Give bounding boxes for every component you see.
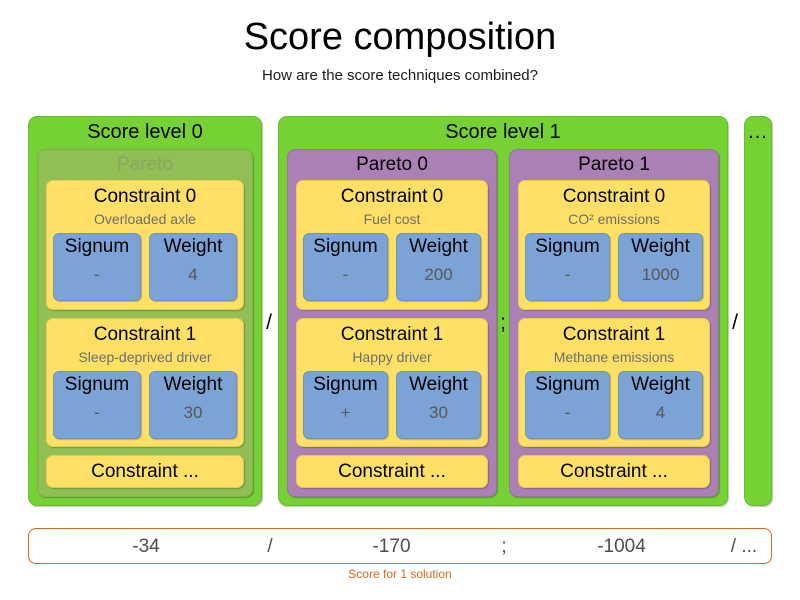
constraint-card[interactable]: Constraint 1 Happy driver Signum + Weigh… <box>296 318 488 448</box>
page-title: Score composition <box>0 0 800 59</box>
signum-value: - <box>565 260 571 290</box>
signum-label: Signum <box>65 372 129 398</box>
score-cell-pareto-1: -1004 <box>509 529 734 565</box>
constraint-name: Constraint 1 <box>53 322 237 347</box>
signum-value: - <box>343 260 349 290</box>
signum-box[interactable]: Signum - <box>303 233 388 301</box>
weight-value: 30 <box>429 398 448 428</box>
signum-box[interactable]: Signum + <box>303 371 388 439</box>
score-level-1-title: Score level 1 <box>279 117 727 147</box>
signum-box[interactable]: Signum - <box>53 233 141 301</box>
score-level-0-title: Score level 0 <box>29 117 261 147</box>
signum-label: Signum <box>535 234 599 260</box>
signum-value: - <box>565 398 571 428</box>
constraint-list: Constraint 0 Fuel cost Signum - Weight 2… <box>296 180 488 488</box>
constraint-attributes: Signum - Weight 30 <box>53 371 237 439</box>
constraint-card[interactable]: Constraint 0 Overloaded axle Signum - We… <box>46 180 244 310</box>
pareto-title: Pareto 0 <box>296 150 488 180</box>
score-cell-level-0: -34 <box>29 529 263 565</box>
signum-label: Signum <box>535 372 599 398</box>
score-level-0-panel[interactable]: Score level 0 Pareto Constraint 0 Overlo… <box>28 116 262 506</box>
weight-label: Weight <box>409 234 468 260</box>
score-level-more-panel[interactable]: ... <box>744 116 772 506</box>
constraint-name: Constraint 0 <box>303 184 481 209</box>
constraint-attributes: Signum - Weight 4 <box>525 371 703 439</box>
constraint-list: Constraint 0 CO² emissions Signum - Weig… <box>518 180 710 488</box>
score-bar[interactable]: -34 / -170 ; -1004 / ... <box>28 528 772 564</box>
constraint-name: Constraint 0 <box>525 184 703 209</box>
constraint-attributes: Signum - Weight 4 <box>53 233 237 301</box>
weight-label: Weight <box>164 234 223 260</box>
page-header: Score composition How are the score tech… <box>0 0 800 84</box>
pareto-box-disabled[interactable]: Pareto Constraint 0 Overloaded axle Sign… <box>37 149 253 497</box>
signum-value: + <box>341 398 351 428</box>
weight-box[interactable]: Weight 4 <box>618 371 703 439</box>
weight-label: Weight <box>631 234 690 260</box>
signum-box[interactable]: Signum - <box>525 233 610 301</box>
constraint-list: Constraint 0 Overloaded axle Signum - We… <box>46 180 244 488</box>
constraint-more-card[interactable]: Constraint ... <box>296 455 488 488</box>
signum-value: - <box>94 398 100 428</box>
weight-box[interactable]: Weight 4 <box>149 233 237 301</box>
constraint-description: Methane emissions <box>525 347 703 367</box>
score-cell-more: / ... <box>719 529 769 565</box>
weight-value: 4 <box>188 260 197 290</box>
constraint-attributes: Signum - Weight 200 <box>303 233 481 301</box>
constraint-more-label: Constraint ... <box>338 461 446 483</box>
constraint-name: Constraint 0 <box>53 184 237 209</box>
constraint-description: CO² emissions <box>525 209 703 229</box>
constraint-name: Constraint 1 <box>303 322 481 347</box>
weight-label: Weight <box>164 372 223 398</box>
weight-value: 4 <box>656 398 665 428</box>
signum-label: Signum <box>313 372 377 398</box>
pareto-title: Pareto <box>46 150 244 180</box>
page-subtitle: How are the score techniques combined? <box>0 59 800 84</box>
weight-label: Weight <box>409 372 468 398</box>
pareto-box-1[interactable]: Pareto 1 Constraint 0 CO² emissions Sign… <box>509 149 719 497</box>
constraint-more-card[interactable]: Constraint ... <box>46 455 244 488</box>
constraint-name: Constraint 1 <box>525 322 703 347</box>
constraint-card[interactable]: Constraint 1 Methane emissions Signum - … <box>518 318 710 448</box>
weight-value: 200 <box>424 260 452 290</box>
constraint-more-label: Constraint ... <box>560 461 668 483</box>
separator-pareto-0-to-1: ; <box>492 312 514 333</box>
constraint-card[interactable]: Constraint 0 Fuel cost Signum - Weight 2… <box>296 180 488 310</box>
constraint-more-card[interactable]: Constraint ... <box>518 455 710 488</box>
signum-label: Signum <box>65 234 129 260</box>
weight-value: 1000 <box>642 260 680 290</box>
constraint-card[interactable]: Constraint 0 CO² emissions Signum - Weig… <box>518 180 710 310</box>
constraint-description: Happy driver <box>303 347 481 367</box>
signum-box[interactable]: Signum - <box>525 371 610 439</box>
score-composition-diagram: Score level 0 Pareto Constraint 0 Overlo… <box>0 116 800 506</box>
signum-value: - <box>94 260 100 290</box>
signum-label: Signum <box>313 234 377 260</box>
score-bar-wrapper: -34 / -170 ; -1004 / ... Score for 1 sol… <box>28 528 772 581</box>
weight-box[interactable]: Weight 30 <box>396 371 481 439</box>
score-level-0-pareto-row: Pareto Constraint 0 Overloaded axle Sign… <box>37 149 253 497</box>
weight-label: Weight <box>631 372 690 398</box>
weight-value: 30 <box>184 398 203 428</box>
weight-box[interactable]: Weight 200 <box>396 233 481 301</box>
constraint-card[interactable]: Constraint 1 Sleep-deprived driver Signu… <box>46 318 244 448</box>
constraint-attributes: Signum - Weight 1000 <box>525 233 703 301</box>
pareto-title: Pareto 1 <box>518 150 710 180</box>
weight-box[interactable]: Weight 30 <box>149 371 237 439</box>
constraint-attributes: Signum + Weight 30 <box>303 371 481 439</box>
score-bar-caption: Score for 1 solution <box>28 564 772 581</box>
constraint-description: Fuel cost <box>303 209 481 229</box>
score-level-more-title: ... <box>745 117 771 147</box>
constraint-description: Sleep-deprived driver <box>53 347 237 367</box>
signum-box[interactable]: Signum - <box>53 371 141 439</box>
constraint-description: Overloaded axle <box>53 209 237 229</box>
pareto-box-0[interactable]: Pareto 0 Constraint 0 Fuel cost Signum -… <box>287 149 497 497</box>
constraint-more-label: Constraint ... <box>91 461 199 483</box>
score-cell-pareto-0: -170 <box>279 529 504 565</box>
weight-box[interactable]: Weight 1000 <box>618 233 703 301</box>
